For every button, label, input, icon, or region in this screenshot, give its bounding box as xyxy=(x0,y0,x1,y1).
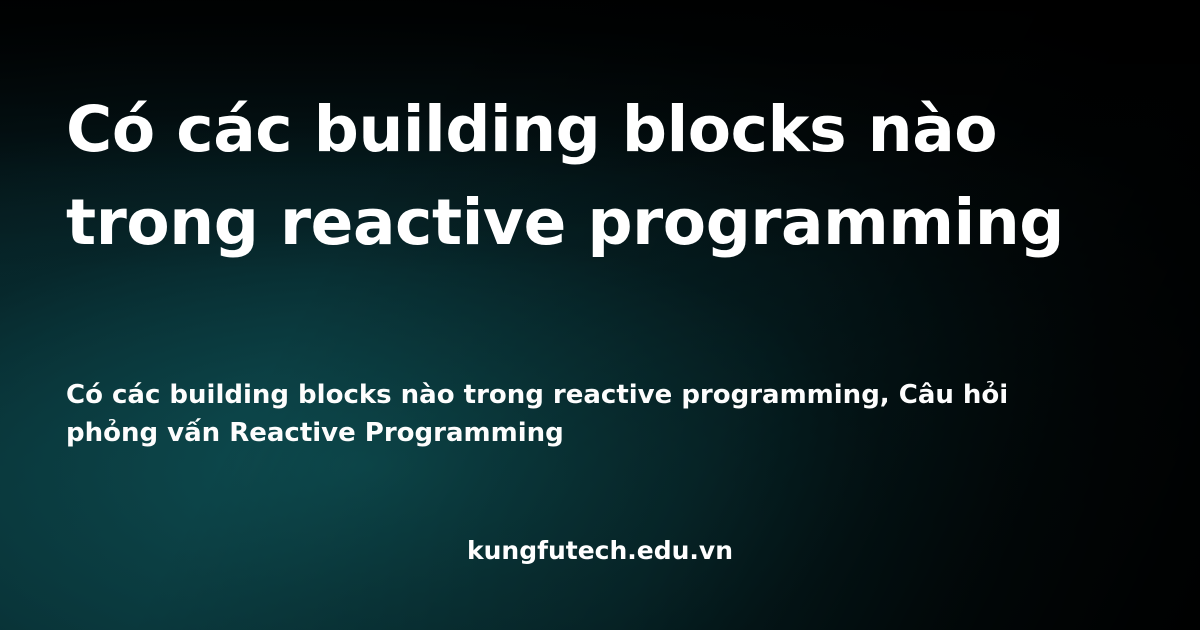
social-share-card: Có các building blocks nào trong reactiv… xyxy=(0,0,1200,630)
footer-domain-label: kungfutech.edu.vn xyxy=(0,535,1200,568)
card-content: Có các building blocks nào trong reactiv… xyxy=(0,0,1200,630)
card-title: Có các building blocks nào trong reactiv… xyxy=(66,84,1126,269)
card-subtitle: Có các building blocks nào trong reactiv… xyxy=(66,376,1066,453)
